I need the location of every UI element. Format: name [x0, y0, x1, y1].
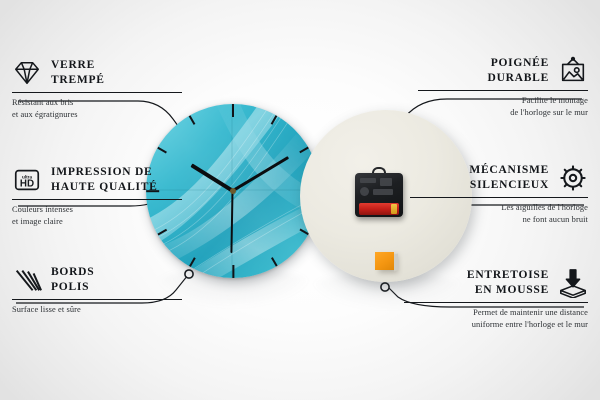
feature-description: Facilite le montage de l'horloge sur le …	[418, 95, 588, 119]
mechanism-battery	[359, 203, 399, 215]
feature-poignee-durable: POIGNÉE DURABLE Facilite le montage de l…	[418, 56, 588, 119]
foam-spacer	[375, 252, 394, 270]
diamond-icon	[12, 58, 42, 88]
feature-title: VERRE TREMPÉ	[51, 58, 105, 87]
gear-icon	[558, 163, 588, 193]
feature-header: ENTRETOISE EN MOUSSE	[404, 268, 588, 298]
feature-title: IMPRESSION DE HAUTE QUALITÉ	[51, 165, 158, 194]
polished-edges-icon	[12, 265, 42, 295]
ultra-hd-icon: ultra HD	[12, 165, 42, 195]
feature-divider	[410, 197, 588, 198]
infographic-canvas: VERRE TREMPÉ Résistant aux bris et aux é…	[0, 0, 600, 400]
clock-mechanism	[355, 167, 403, 217]
mechanism-detail	[360, 187, 369, 196]
clock-tick	[232, 265, 234, 278]
feature-title: MÉCANISME SILENCIEUX	[469, 163, 549, 192]
foam-press-icon	[558, 268, 588, 298]
hanging-frame-icon	[558, 56, 588, 86]
feature-bords-polis: BORDS POLIS Surface lisse et sûre	[12, 265, 182, 316]
feature-description: Les aiguilles de l'horloge ne font aucun…	[410, 202, 588, 226]
svg-text:HD: HD	[20, 179, 34, 190]
mechanism-detail	[373, 189, 393, 195]
feature-divider	[12, 199, 182, 200]
feature-header: VERRE TREMPÉ	[12, 58, 182, 88]
feature-header: ultra HD IMPRESSION DE HAUTE QUALITÉ	[12, 165, 182, 195]
feature-description: Résistant aux bris et aux égratignures	[12, 97, 182, 121]
clock-tick	[232, 104, 234, 117]
feature-description: Couleurs intenses et image claire	[12, 204, 182, 228]
feature-description: Permet de maintenir une distance uniform…	[404, 307, 588, 331]
feature-description: Surface lisse et sûre	[12, 304, 182, 316]
feature-impression-haute-qualite: ultra HD IMPRESSION DE HAUTE QUALITÉ Cou…	[12, 165, 182, 228]
mechanism-detail	[380, 178, 392, 186]
feature-verre-trempe: VERRE TREMPÉ Résistant aux bris et aux é…	[12, 58, 182, 121]
feature-title: BORDS POLIS	[51, 265, 94, 294]
feature-title: POIGNÉE DURABLE	[488, 56, 549, 85]
feature-divider	[12, 299, 182, 300]
feature-mecanisme-silencieux: MÉCANISME SILENCIEUX Les aiguilles de l'…	[410, 163, 588, 226]
feature-divider	[418, 90, 588, 91]
clock-center-cap	[230, 188, 236, 194]
feature-header: POIGNÉE DURABLE	[418, 56, 588, 86]
mechanism-detail	[360, 178, 376, 183]
mechanism-body	[355, 173, 403, 217]
feature-header: MÉCANISME SILENCIEUX	[410, 163, 588, 193]
feature-header: BORDS POLIS	[12, 265, 182, 295]
feature-entretoise-en-mousse: ENTRETOISE EN MOUSSE Permet de maintenir…	[404, 268, 588, 331]
feature-divider	[12, 92, 182, 93]
feature-divider	[404, 302, 588, 303]
feature-title: ENTRETOISE EN MOUSSE	[467, 268, 549, 297]
